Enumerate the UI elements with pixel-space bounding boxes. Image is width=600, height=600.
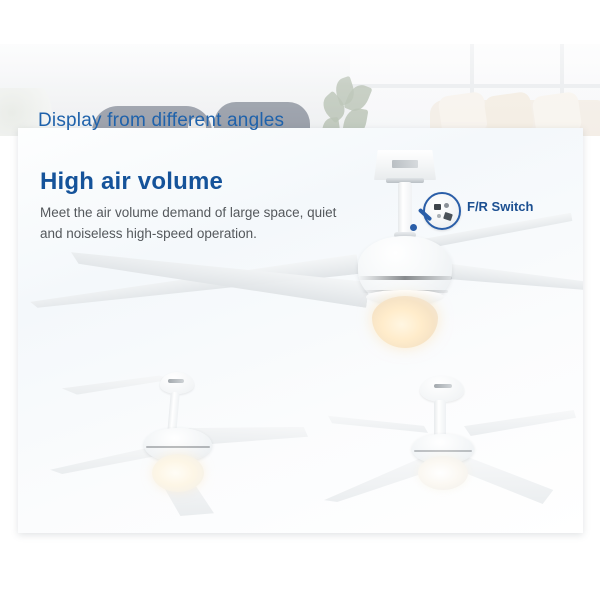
fan-blade [435, 262, 583, 297]
fan-housing-seam [414, 450, 472, 452]
fan-blade [328, 414, 428, 436]
banner-heading: Display from different angles [38, 110, 284, 132]
fr-switch-label: F/R Switch [467, 199, 533, 214]
product-feature-page: Display from different angles High air v… [0, 0, 600, 600]
fr-switch-callout: F/R Switch [423, 192, 583, 244]
fan-light-globe [372, 296, 438, 348]
switch-detail [437, 214, 441, 218]
fan-housing-seam [358, 276, 452, 280]
fan-brand-logo [168, 379, 184, 383]
fan-blade [464, 410, 576, 436]
fan-light-globe [152, 454, 204, 492]
bottom-left-ceiling-fan-image [48, 366, 298, 516]
feature-card: High air volume Meet the air volume dema… [18, 128, 583, 533]
fan-blade [62, 372, 173, 398]
fan-ceiling-canopy [420, 376, 464, 402]
fan-housing-seam [146, 446, 210, 448]
fan-ceiling-canopy [160, 372, 194, 394]
feature-description: Meet the air volume demand of large spac… [40, 202, 340, 244]
hero-banner: Display from different angles [0, 44, 600, 136]
feature-title: High air volume [40, 168, 223, 196]
fan-blade [460, 454, 566, 504]
magnifier-icon [423, 192, 461, 230]
fan-brand-logo [434, 384, 452, 388]
switch-detail [443, 212, 453, 221]
fan-brand-logo [392, 160, 418, 168]
fan-blade [324, 456, 434, 502]
fan-light-globe [418, 456, 468, 490]
switch-detail [444, 203, 449, 208]
switch-detail [434, 204, 441, 210]
bottom-right-ceiling-fan-image [314, 372, 582, 517]
callout-pointer-dot [410, 224, 417, 231]
